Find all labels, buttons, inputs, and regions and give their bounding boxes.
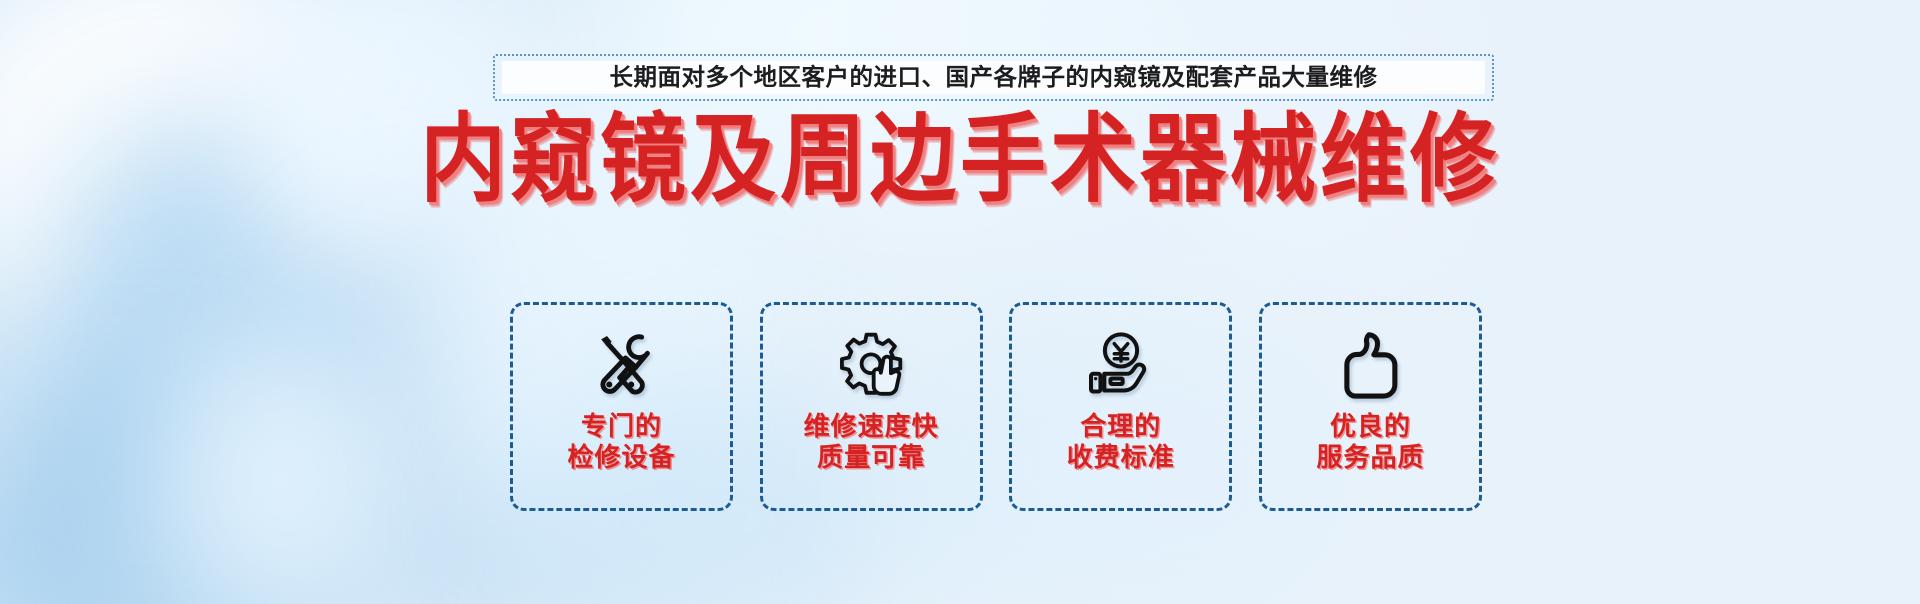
promo-banner: 长期面对多个地区客户的进口、国产各牌子的内窥镜及配套产品大量维修 内窥镜及周边手… <box>0 0 1920 604</box>
feature-label-line2: 检修设备 <box>567 442 675 473</box>
headline-row: 内窥镜及周边手术器械维修 <box>0 112 1920 198</box>
feature-card-label: 优良的 服务品质 <box>1316 411 1424 472</box>
feature-label-line1: 优良的 <box>1316 411 1424 442</box>
feature-label-line1: 合理的 <box>1067 411 1175 442</box>
screwdriver-wrench-icon <box>580 327 664 405</box>
thumbs-up-icon <box>1328 327 1412 405</box>
feature-card-label: 专门的 检修设备 <box>567 411 675 472</box>
feature-label-line1: 维修速度快 <box>804 411 939 442</box>
feature-label-line2: 收费标准 <box>1067 442 1175 473</box>
feature-label-line2: 服务品质 <box>1316 442 1424 473</box>
feature-card-label: 维修速度快 质量可靠 <box>804 411 939 472</box>
subtitle-ribbon: 长期面对多个地区客户的进口、国产各牌子的内窥镜及配套产品大量维修 <box>493 54 1494 101</box>
feature-label-line1: 专门的 <box>567 411 675 442</box>
feature-card-service[interactable]: 优良的 服务品质 <box>1259 302 1482 511</box>
feature-card-label: 合理的 收费标准 <box>1067 411 1175 472</box>
feature-card-speed[interactable]: 维修速度快 质量可靠 <box>760 302 983 511</box>
feature-label-line2: 质量可靠 <box>804 442 939 473</box>
subtitle-text: 长期面对多个地区客户的进口、国产各牌子的内窥镜及配套产品大量维修 <box>610 66 1378 90</box>
feature-card-equipment[interactable]: 专门的 检修设备 <box>510 302 733 511</box>
feature-card-list: 专门的 检修设备 维修速度快 质量可靠 <box>510 302 1482 512</box>
feature-card-price[interactable]: 合理的 收费标准 <box>1009 302 1232 511</box>
hand-holding-yuan-coin-icon <box>1079 327 1163 405</box>
subtitle-inner-panel: 长期面对多个地区客户的进口、国产各牌子的内窥镜及配套产品大量维修 <box>502 61 1485 94</box>
banner-content: 长期面对多个地区客户的进口、国产各牌子的内窥镜及配套产品大量维修 内窥镜及周边手… <box>0 0 1920 604</box>
gear-click-hand-icon <box>829 327 913 405</box>
page-title: 内窥镜及周边手术器械维修 <box>420 112 1500 208</box>
